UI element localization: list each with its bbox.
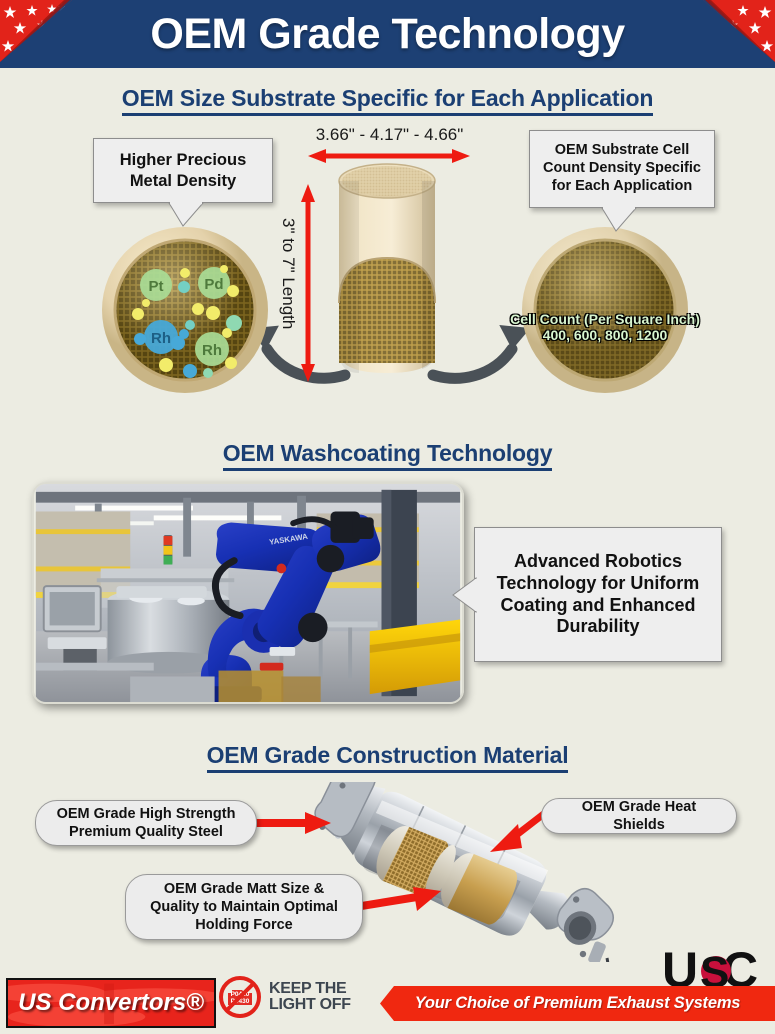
section-heading-substrate: OEM Size Substrate Specific for Each App… <box>0 85 775 112</box>
section-heading-construction: OEM Grade Construction Material <box>0 742 775 769</box>
cell-count-title: Cell Count (Per Square Inch) <box>498 311 712 327</box>
svg-text:Pd: Pd <box>204 276 223 293</box>
diameter-label: 3.66" - 4.17" - 4.66" <box>312 125 467 145</box>
cell-count-disc <box>520 225 690 395</box>
arrow-to-matt-icon <box>355 885 445 915</box>
page-title: OEM Grade Technology <box>0 0 775 68</box>
section-heading-construction-label: OEM Grade Construction Material <box>207 742 569 773</box>
page-header: OEM Grade Technology <box>0 0 775 68</box>
tagline-label: Your Choice of Premium Exhaust Systems <box>415 994 741 1013</box>
callout-premium-steel-label: OEM Grade High Strength Premium Quality … <box>48 805 244 841</box>
section-heading-substrate-label: OEM Size Substrate Specific for Each App… <box>122 85 653 116</box>
callout-precious-metal-density: Higher Precious Metal Density <box>93 138 273 203</box>
us-convertors-brand-label: US Convertors® <box>8 980 214 1026</box>
svg-text:Pt: Pt <box>149 278 164 295</box>
callout-heat-shields: OEM Grade Heat Shields <box>541 798 737 834</box>
cell-count-values: 400, 600, 800, 1200 <box>498 327 712 343</box>
diameter-arrow-icon <box>306 148 472 164</box>
svg-text:Rh: Rh <box>151 330 171 347</box>
callout-heat-shields-label: OEM Grade Heat Shields <box>554 798 724 834</box>
callout-tail-icon <box>602 208 638 232</box>
callout-matt-size: OEM Grade Matt Size & Quality to Maintai… <box>125 874 363 940</box>
callout-tail-icon <box>453 578 477 614</box>
callout-advanced-robotics-label: Advanced Robotics Technology for Uniform… <box>484 551 712 639</box>
callout-tail-icon <box>169 203 205 227</box>
callout-matt-size-label: OEM Grade Matt Size & Quality to Maintai… <box>138 880 350 934</box>
washcoating-photo: YASKAWA <box>32 482 464 704</box>
length-arrow-icon <box>300 182 316 384</box>
us-convertors-logo-box: US Convertors® <box>6 978 216 1028</box>
callout-cell-count-density-label: OEM Substrate Cell Count Density Specifi… <box>539 142 705 195</box>
section-heading-washcoating-label: OEM Washcoating Technology <box>223 440 553 471</box>
substrate-cylinder <box>312 155 462 405</box>
section-heading-washcoating: OEM Washcoating Technology <box>0 440 775 467</box>
tagline-banner: Your Choice of Premium Exhaust Systems <box>380 986 775 1021</box>
callout-premium-steel: OEM Grade High Strength Premium Quality … <box>35 800 257 846</box>
arrow-to-steel-icon <box>253 812 333 834</box>
cell-count-overlay: Cell Count (Per Square Inch) 400, 600, 8… <box>498 311 712 343</box>
callout-advanced-robotics: Advanced Robotics Technology for Uniform… <box>474 527 722 662</box>
svg-text:Rh: Rh <box>202 342 222 359</box>
precious-metal-disc: Pt Pd Rh Rh <box>100 225 270 395</box>
callout-cell-count-density: OEM Substrate Cell Count Density Specifi… <box>529 130 715 208</box>
page-footer: US Convertors® Your Choice of Premium Ex… <box>0 972 775 1034</box>
length-label: 3" to 7" Length <box>278 218 298 329</box>
substrate-diagram: 3.66" - 4.17" - 4.66" 3" to 7" Length <box>0 120 775 420</box>
callout-precious-metal-density-label: Higher Precious Metal Density <box>103 150 263 190</box>
